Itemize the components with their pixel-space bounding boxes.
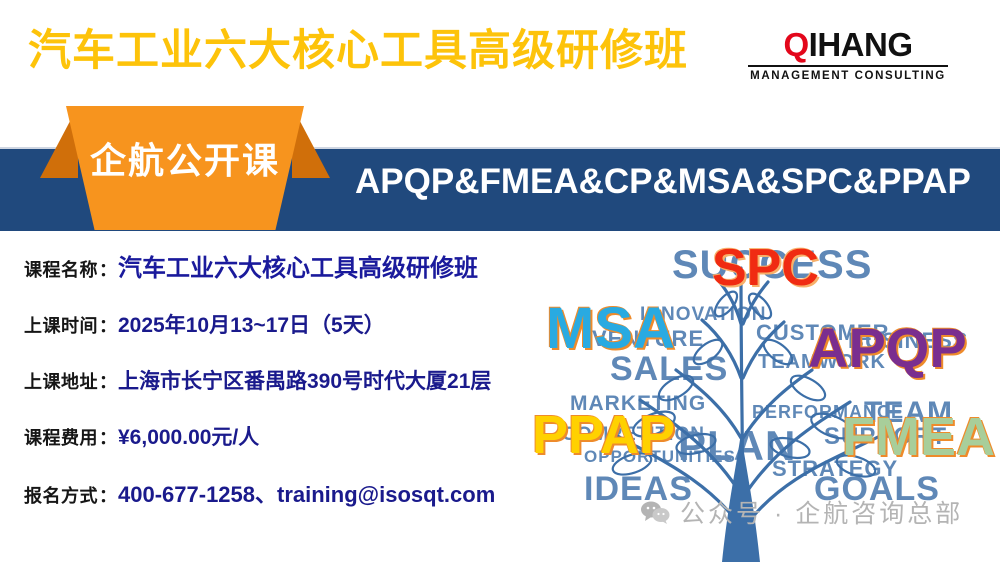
detail-row-contact: 报名方式 ： 400-677-1258、training@isosqt.com (24, 477, 584, 509)
detail-value: 汽车工业六大核心工具高级研修班 (118, 248, 478, 283)
logo-tagline: MANAGEMENT CONSULTING (748, 70, 948, 82)
course-poster: 汽车工业六大核心工具高级研修班 QIHANG MANAGEMENT CONSUL… (0, 0, 1000, 562)
detail-value: 上海市长宁区番禺路390号时代大厦21层 (118, 365, 491, 395)
detail-label: 课程费用 (24, 424, 98, 450)
acronym-spc: SPC (712, 242, 819, 294)
detail-colon: ： (98, 368, 118, 394)
page-title: 汽车工业六大核心工具高级研修班 (28, 28, 688, 75)
brand-logo: QIHANG MANAGEMENT CONSULTING (748, 28, 948, 82)
acronym-ppap: PPAP (532, 408, 675, 462)
detail-colon: ： (98, 482, 118, 508)
logo-wordmark: QIHANG (748, 28, 948, 61)
ribbon-label: 企航公开课 (40, 106, 330, 184)
logo-initial: Q (783, 26, 808, 63)
detail-row-fee: 课程费用 ： ¥6,000.00元/人 (24, 421, 584, 451)
detail-row-address: 上课地址 ： 上海市长宁区番禺路390号时代大厦21层 (24, 365, 584, 395)
wechat-icon (640, 500, 670, 524)
course-details: 课程名称 ： 汽车工业六大核心工具高级研修班 上课时间 ： 2025年10月13… (24, 248, 584, 535)
logo-divider (748, 65, 948, 67)
tools-band-text: APQP&FMEA&CP&MSA&SPC&PPAP (355, 162, 971, 202)
logo-name-rest: IHANG (809, 26, 913, 63)
detail-colon: ： (98, 424, 118, 450)
detail-row-date: 上课时间 ： 2025年10月13~17日（5天） (24, 309, 584, 339)
detail-colon: ： (98, 312, 118, 338)
detail-label: 课程名称 (24, 256, 98, 282)
detail-label: 上课时间 (24, 312, 98, 338)
detail-value: ¥6,000.00元/人 (118, 421, 259, 451)
detail-row-course-name: 课程名称 ： 汽车工业六大核心工具高级研修班 (24, 248, 584, 283)
detail-value: 400-677-1258、training@isosqt.com (118, 477, 495, 509)
detail-label: 报名方式 (24, 482, 98, 508)
detail-value: 2025年10月13~17日（5天） (118, 309, 385, 339)
acronym-msa: MSA (546, 300, 675, 358)
wechat-watermark: 公众号 · 企航咨询总部 (640, 494, 963, 530)
open-course-ribbon: 企航公开课 (40, 106, 330, 230)
watermark-text: 公众号 · 企航咨询总部 (680, 494, 963, 530)
detail-colon: ： (98, 256, 118, 282)
detail-label: 上课地址 (24, 368, 98, 394)
acronym-fmea: FMEA (842, 410, 995, 464)
acronym-apqp: APQP (808, 320, 967, 376)
